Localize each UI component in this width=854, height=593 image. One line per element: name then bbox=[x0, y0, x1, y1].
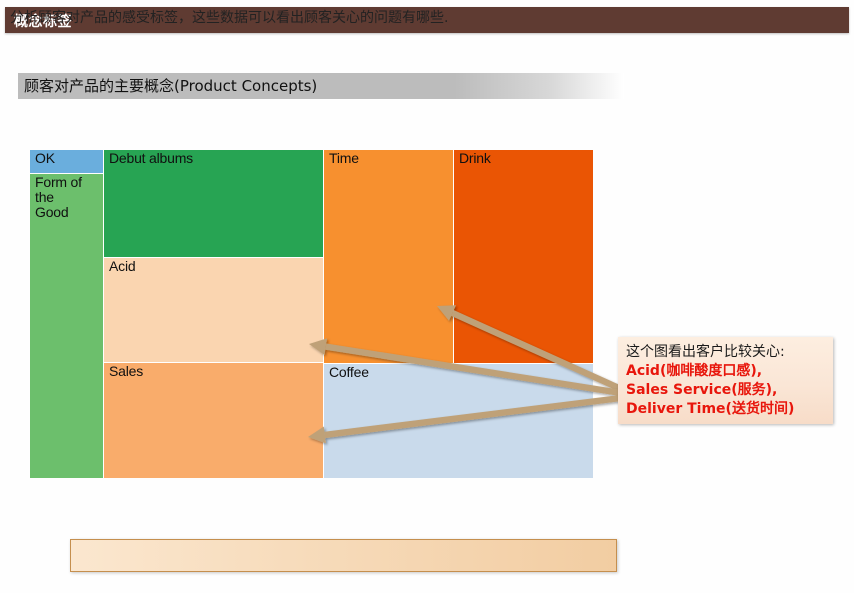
treemap-cell[interactable]: Acid bbox=[104, 258, 323, 362]
treemap-cell-label: Coffee bbox=[329, 365, 369, 380]
treemap-cell[interactable]: Form of the Good bbox=[30, 174, 103, 478]
treemap-cell[interactable]: Debut albums bbox=[104, 150, 323, 257]
annotation-red-line-3: Deliver Time(送货时间) bbox=[626, 400, 794, 419]
annotation-red-line-1: Acid(咖啡酸度口感), bbox=[626, 362, 794, 381]
treemap-cell-label: Debut albums bbox=[109, 151, 193, 166]
annotation-text-block: 这个图看出客户比较关心: Acid(咖啡酸度口感), Sales Service… bbox=[626, 343, 794, 419]
treemap-cell[interactable]: Time bbox=[324, 150, 453, 363]
annotation-callout: 这个图看出客户比较关心: Acid(咖啡酸度口感), Sales Service… bbox=[618, 337, 833, 424]
treemap-cell-label: Form of the Good bbox=[35, 175, 82, 220]
annotation-red-line-2: Sales Service(服务), bbox=[626, 381, 794, 400]
product-concepts-treemap: OKForm of the GoodDebut albumsAcidSalesT… bbox=[30, 150, 593, 478]
treemap-cell-label: Drink bbox=[459, 151, 491, 166]
treemap-cell-label: Time bbox=[329, 151, 359, 166]
treemap-cell-label: OK bbox=[35, 151, 55, 166]
treemap-cell-label: Acid bbox=[109, 259, 135, 274]
annotation-head-line: 这个图看出客户比较关心: bbox=[626, 343, 794, 362]
treemap-cell[interactable]: Drink bbox=[454, 150, 593, 363]
treemap-cell[interactable]: Coffee bbox=[324, 364, 593, 478]
summary-caption-text: 分析顾客对产品的感受标签，这些数据可以看出顾客关心的问题有哪些. bbox=[10, 7, 448, 27]
treemap-cell-label: Sales bbox=[109, 364, 143, 379]
treemap-cell[interactable]: Sales bbox=[104, 363, 323, 478]
page-title: 顾客对产品的主要概念(Product Concepts) bbox=[24, 75, 317, 96]
treemap-cell[interactable]: OK bbox=[30, 150, 103, 173]
summary-caption-box bbox=[70, 539, 617, 572]
